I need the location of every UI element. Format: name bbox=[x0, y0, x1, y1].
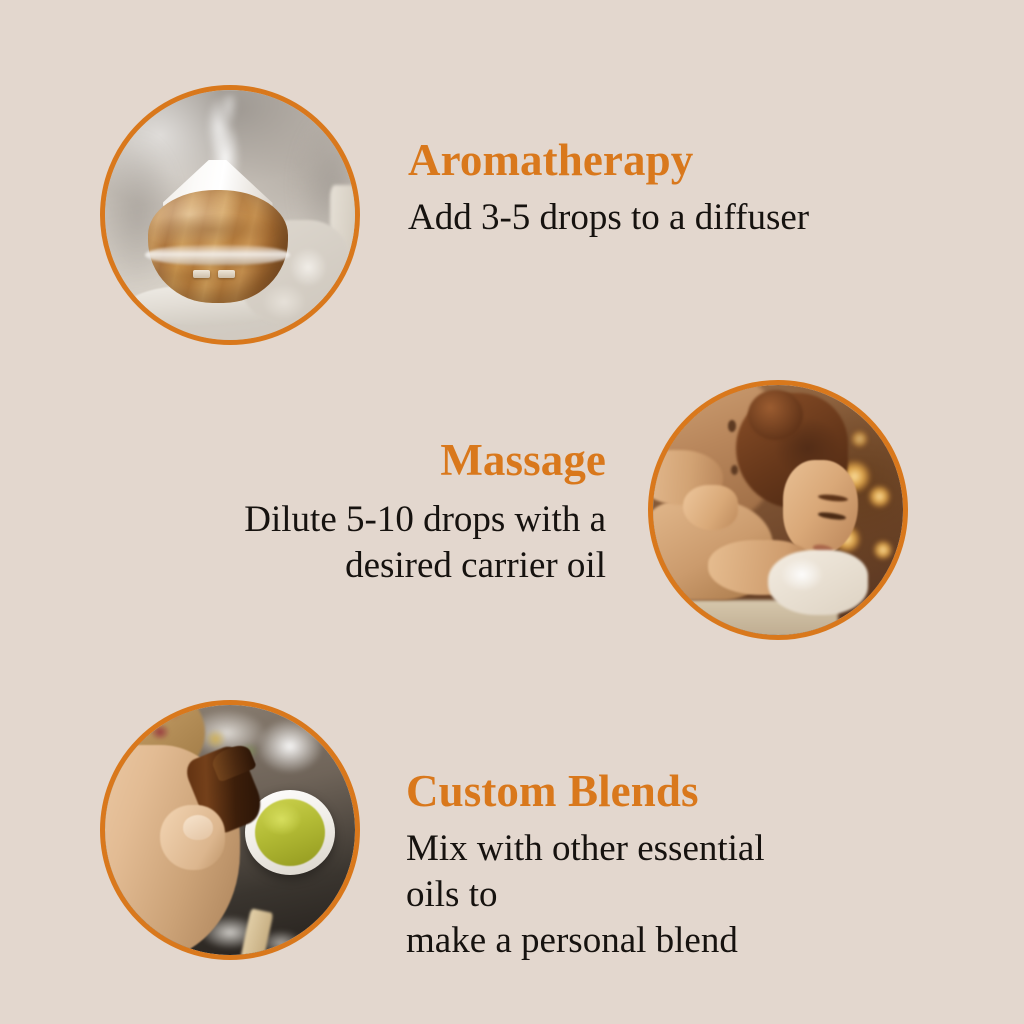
massage-photo-inner bbox=[653, 385, 903, 635]
custom-blends-text-block: Custom Blends Mix with other essential o… bbox=[406, 768, 826, 965]
massage-photo bbox=[648, 380, 908, 640]
diffuser-photo bbox=[100, 85, 360, 345]
diffuser-button-right bbox=[218, 270, 236, 278]
massage-therapist-hand bbox=[683, 485, 738, 530]
diffuser-light-ring bbox=[145, 245, 290, 265]
custom-blends-heading: Custom Blends bbox=[406, 768, 826, 815]
massage-towel bbox=[768, 550, 868, 615]
massage-candle-5 bbox=[851, 430, 869, 448]
diffuser-button-left bbox=[193, 270, 211, 278]
massage-client-hair-bun bbox=[748, 390, 803, 440]
massage-heading: Massage bbox=[160, 437, 606, 484]
massage-text-block: Massage Dilute 5-10 drops with a desired… bbox=[160, 437, 606, 589]
custom-blends-body-line-1: Mix with other essential oils to bbox=[406, 826, 826, 919]
massage-body: Dilute 5-10 drops with a desired carrier… bbox=[160, 497, 606, 590]
aromatherapy-heading: Aromatherapy bbox=[408, 137, 878, 184]
massage-therapist-button-2 bbox=[731, 465, 738, 475]
massage-candle-4 bbox=[873, 540, 893, 560]
infographic-canvas: Aromatherapy Add 3-5 drops to a diffuser bbox=[0, 0, 1024, 1024]
massage-candle-2 bbox=[868, 485, 891, 508]
aromatherapy-body: Add 3-5 drops to a diffuser bbox=[408, 195, 878, 241]
custom-blends-photo-inner bbox=[105, 705, 355, 955]
massage-body-line-1: Dilute 5-10 drops with a bbox=[160, 497, 606, 543]
custom-blends-body-line-2: make a personal blend bbox=[406, 918, 826, 964]
aromatherapy-body-line-1: Add 3-5 drops to a diffuser bbox=[408, 195, 878, 241]
aromatherapy-text-block: Aromatherapy Add 3-5 drops to a diffuser bbox=[408, 137, 878, 241]
massage-therapist-button-1 bbox=[728, 420, 736, 432]
blends-thumbnail bbox=[183, 815, 213, 840]
custom-blends-body: Mix with other essential oils to make a … bbox=[406, 826, 826, 965]
diffuser-photo-inner bbox=[105, 90, 355, 340]
custom-blends-photo bbox=[100, 700, 360, 960]
blends-green-oil bbox=[255, 799, 325, 867]
massage-body-line-2: desired carrier oil bbox=[160, 543, 606, 589]
